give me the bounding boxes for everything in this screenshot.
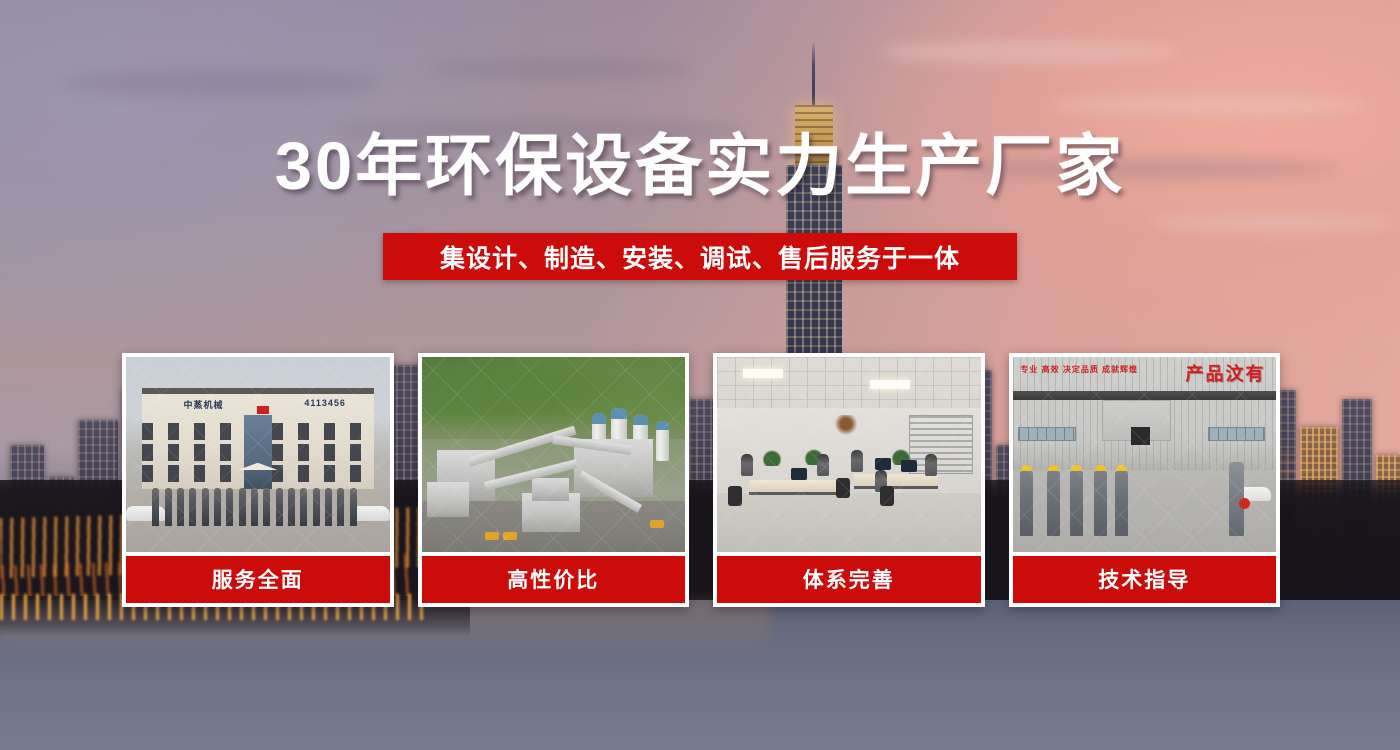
card-caption: 体系完善: [717, 556, 981, 603]
plant-building: [427, 482, 469, 517]
monitor: [875, 458, 891, 470]
cloud: [880, 40, 1180, 64]
hard-hat-icon: [1116, 465, 1127, 471]
staff-lineup: [152, 488, 358, 527]
ceiling: [717, 357, 981, 408]
factory-side-door: [1131, 427, 1149, 445]
excavator: [485, 532, 499, 540]
feature-card[interactable]: 产品汶有 专业 高效 决定品质 成就辉煌 技术指导: [1009, 353, 1281, 607]
desk: [749, 480, 839, 496]
factory-facade: 产品汶有 专业 高效 决定品质 成就辉煌: [1013, 357, 1277, 470]
hero-banner-stage: 30年环保设备实力生产厂家 集设计、制造、安装、调试、售后服务于一体 中蒸机械 …: [0, 0, 1400, 750]
silo: [656, 421, 669, 461]
card-photo-office-interior: [717, 357, 981, 552]
subtitle-banner: 集设计、制造、安装、调试、售后服务于一体: [383, 233, 1017, 280]
wall-decal: [833, 415, 859, 437]
worker: [1094, 470, 1107, 536]
excavator: [650, 520, 664, 528]
worker: [1115, 470, 1128, 536]
worker: [1020, 470, 1033, 536]
building-entrance: [244, 415, 272, 489]
hard-hat-icon: [1021, 465, 1032, 471]
window-blinds: [909, 415, 972, 473]
building-phone-text: 4113456: [304, 398, 346, 408]
ceiling-light: [743, 369, 783, 378]
office-worker: [741, 454, 753, 476]
hard-hat-icon: [1048, 465, 1059, 471]
laptop: [791, 468, 807, 480]
office-worker: [925, 454, 937, 476]
card-caption: 服务全面: [126, 556, 390, 603]
office-floor: [717, 493, 981, 551]
card-caption: 技术指导: [1013, 556, 1277, 603]
card-photo-company-building: 中蒸机械 4113456: [126, 357, 390, 552]
tower-spire: [812, 43, 815, 109]
factory-window: [1208, 427, 1266, 441]
worker: [1070, 470, 1083, 536]
factory-slogan-large: 产品汶有: [1185, 360, 1265, 386]
page-title: 30年环保设备实力生产厂家: [0, 133, 1400, 200]
excavator: [503, 532, 517, 540]
ceiling-light: [870, 380, 910, 389]
feature-card[interactable]: 中蒸机械 4113456: [122, 353, 394, 607]
office-worker: [851, 450, 863, 472]
building-sign-text: 中蒸机械: [184, 398, 224, 411]
desk: [854, 474, 938, 490]
card-photo-industrial-plant: [422, 357, 686, 552]
feature-card-row: 中蒸机械 4113456: [122, 353, 1280, 607]
feature-card[interactable]: 高性价比: [418, 353, 690, 607]
chair: [880, 486, 894, 506]
hard-hat-icon: [1071, 465, 1082, 471]
cloud: [430, 60, 690, 78]
chair: [728, 486, 742, 506]
card-photo-worker-training: 产品汶有 专业 高效 决定品质 成就辉煌: [1013, 357, 1277, 552]
card-caption: 高性价比: [422, 556, 686, 603]
cloud: [1050, 95, 1370, 115]
plant-building: [532, 478, 569, 501]
supervisor: [1229, 462, 1244, 536]
hard-hat-icon: [1095, 465, 1106, 471]
facade-band: [1013, 391, 1277, 400]
office-building: 中蒸机械 4113456: [142, 388, 374, 489]
factory-window: [1018, 427, 1076, 441]
factory-slogan-small: 专业 高效 决定品质 成就辉煌: [1020, 365, 1138, 375]
monitor: [901, 460, 917, 472]
cloud: [1150, 215, 1400, 231]
office-worker: [817, 454, 829, 476]
feature-card[interactable]: 体系完善: [713, 353, 985, 607]
flag: [257, 406, 269, 414]
worker: [1047, 470, 1060, 536]
potted-plant: [762, 450, 782, 466]
chair: [836, 478, 850, 498]
cloud: [60, 70, 380, 96]
